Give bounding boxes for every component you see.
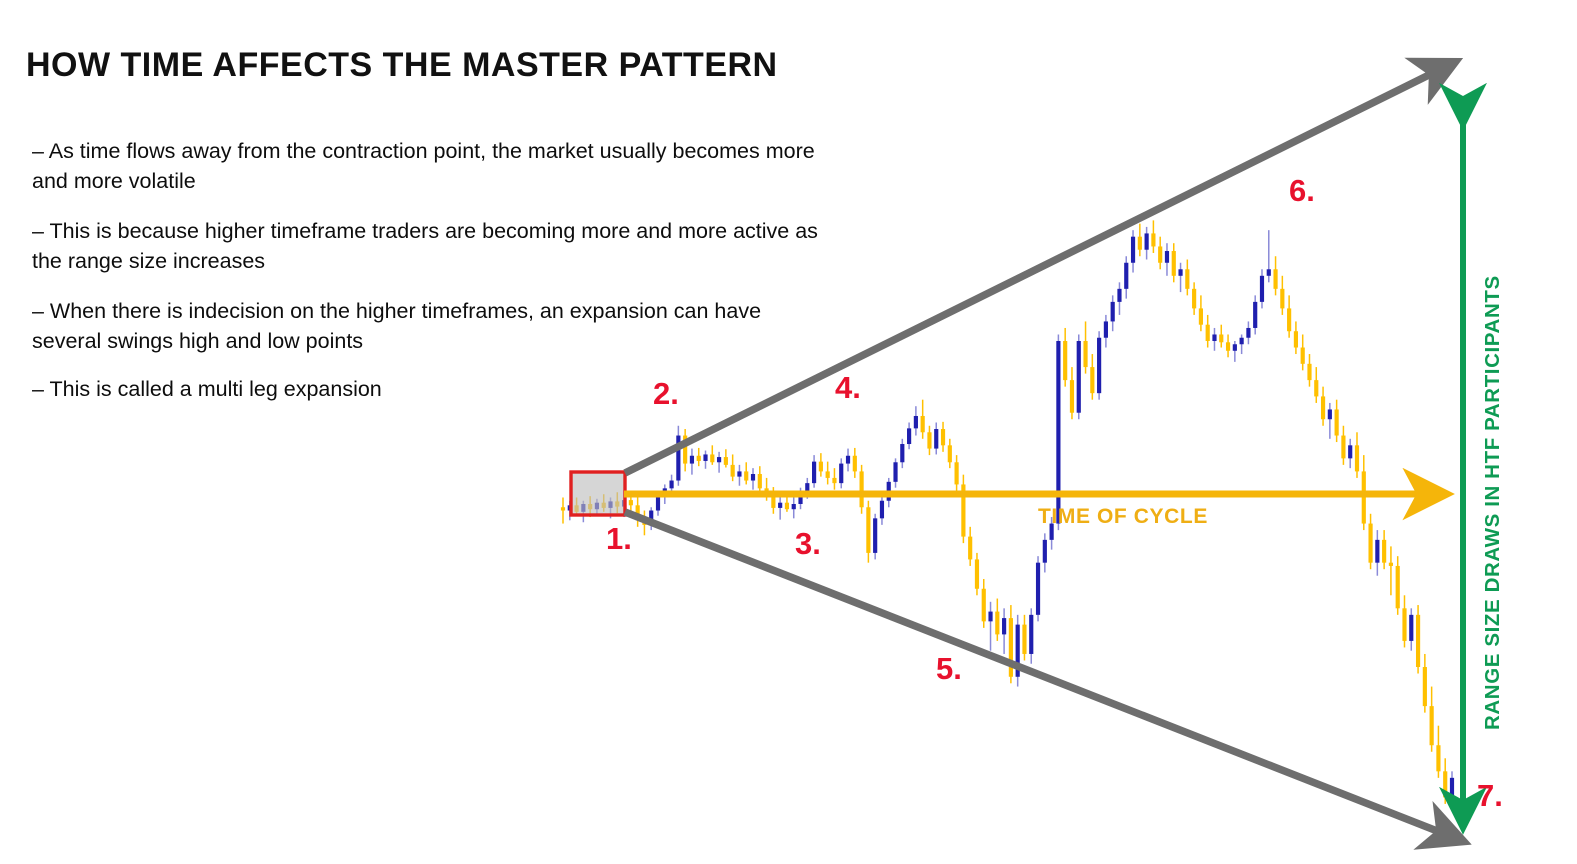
candle-body <box>853 456 857 472</box>
candle-body <box>1375 540 1379 563</box>
candle-body <box>1185 269 1189 289</box>
candle-body <box>941 429 945 445</box>
candle-body <box>1355 445 1359 471</box>
candle-body <box>1423 667 1427 706</box>
candle-body <box>771 496 775 508</box>
lower-trendline <box>625 512 1455 838</box>
candle-body <box>934 429 938 449</box>
candle-body <box>1443 771 1447 797</box>
candle-body <box>792 504 796 509</box>
candle-body <box>1409 615 1413 641</box>
candle-body <box>860 471 864 507</box>
candle-body <box>1199 308 1203 324</box>
candle-body <box>1328 409 1332 419</box>
candle-body <box>1260 276 1264 302</box>
range-size-label: RANGE SIZE DRAWS IN HTF PARTICIPANTS <box>1481 170 1505 730</box>
swing-label-3: 3. <box>795 528 821 559</box>
swing-label-4: 4. <box>835 372 861 403</box>
candle-body <box>1287 308 1291 331</box>
candle-body <box>1063 341 1067 380</box>
candle-body <box>1212 334 1216 341</box>
candle-body <box>1036 563 1040 615</box>
candle-body <box>927 432 931 448</box>
candle-body <box>1280 289 1284 309</box>
candle-body <box>873 518 877 553</box>
candle-body <box>839 464 843 484</box>
candle-body <box>948 445 952 462</box>
candle-body <box>1267 269 1271 276</box>
candle-body <box>758 474 762 488</box>
swing-label-1: 1. <box>606 523 632 554</box>
candle-body <box>1368 524 1372 563</box>
candle-body <box>1226 342 1230 350</box>
candle-body <box>1307 364 1311 380</box>
candle-body <box>731 465 735 477</box>
swing-label-2: 2. <box>653 378 679 409</box>
candle-body <box>1402 608 1406 641</box>
candle-body <box>724 457 728 465</box>
candle-body <box>995 612 999 635</box>
candlestick-series <box>561 220 1454 807</box>
candle-body <box>1335 409 1339 435</box>
candle-body <box>744 471 748 480</box>
candle-body <box>1097 338 1101 393</box>
candle-body <box>697 456 701 461</box>
candle-body <box>1077 341 1081 413</box>
candle-body <box>1131 237 1135 263</box>
candle-body <box>1396 566 1400 608</box>
candle-body <box>1104 321 1108 337</box>
candle-body <box>1029 615 1033 654</box>
candle-body <box>1382 540 1386 563</box>
candle-body <box>1219 334 1223 342</box>
candle-body <box>710 454 714 462</box>
candle-body <box>846 456 850 464</box>
candle-body <box>656 497 660 510</box>
candle-body <box>1158 246 1162 262</box>
candle-body <box>1273 269 1277 289</box>
candle-body <box>880 501 884 519</box>
candle-body <box>907 428 911 444</box>
candle-body <box>785 503 789 510</box>
candle-body <box>1321 396 1325 419</box>
candle-body <box>1389 563 1393 566</box>
candle-body <box>1124 263 1128 289</box>
candle-body <box>1348 445 1352 458</box>
candle-body <box>1253 302 1257 328</box>
candle-body <box>1206 325 1210 341</box>
contraction-box <box>571 472 625 515</box>
candle-body <box>893 462 897 482</box>
candle-body <box>1138 237 1142 250</box>
candle-body <box>1436 745 1440 771</box>
candle-body <box>921 416 925 432</box>
candle-body <box>1151 233 1155 246</box>
candle-body <box>812 462 816 484</box>
candle-body <box>955 462 959 484</box>
candle-body <box>737 471 741 476</box>
candle-body <box>561 507 565 510</box>
candle-body <box>1192 289 1196 309</box>
candle-body <box>703 454 707 461</box>
candle-body <box>669 481 673 489</box>
swing-label-6: 6. <box>1289 175 1315 206</box>
candle-body <box>717 457 721 462</box>
candle-body <box>914 416 918 428</box>
time-of-cycle-label: TIME OF CYCLE <box>1038 505 1208 529</box>
candle-body <box>982 589 986 622</box>
candle-body <box>751 474 755 481</box>
candle-body <box>1178 269 1182 276</box>
swing-label-7: 7. <box>1477 780 1503 811</box>
candle-body <box>988 612 992 622</box>
candle-body <box>1450 778 1454 798</box>
candle-body <box>975 559 979 588</box>
candle-body <box>690 456 694 464</box>
candle-body <box>1294 331 1298 347</box>
candle-body <box>1043 540 1047 563</box>
candle-body <box>968 537 972 560</box>
candle-body <box>1430 706 1434 745</box>
candle-body <box>629 500 633 505</box>
candle-body <box>819 462 823 472</box>
candle-body <box>900 444 904 462</box>
candle-body <box>1246 328 1250 338</box>
candle-body <box>1090 367 1094 393</box>
swing-label-5: 5. <box>936 653 962 684</box>
candle-body <box>1117 289 1121 302</box>
candle-body <box>1314 380 1318 396</box>
candlestick-chart <box>0 0 1577 864</box>
candle-body <box>826 471 830 478</box>
candle-body <box>1111 302 1115 322</box>
candle-body <box>1341 436 1345 459</box>
candle-body <box>866 507 870 553</box>
candle-body <box>832 478 836 483</box>
candle-body <box>1240 338 1244 345</box>
candle-body <box>1002 618 1006 634</box>
candle-body <box>1070 380 1074 413</box>
candle-body <box>1233 344 1237 351</box>
candle-body <box>1416 615 1420 667</box>
candle-body <box>1083 341 1087 367</box>
candle-body <box>1172 251 1176 276</box>
slide-canvas: HOW TIME AFFECTS THE MASTER PATTERN – As… <box>0 0 1577 864</box>
candle-body <box>778 503 782 508</box>
candle-body <box>1165 251 1169 263</box>
candle-body <box>1145 233 1149 249</box>
candle-body <box>1022 625 1026 654</box>
candle-body <box>1301 348 1305 364</box>
